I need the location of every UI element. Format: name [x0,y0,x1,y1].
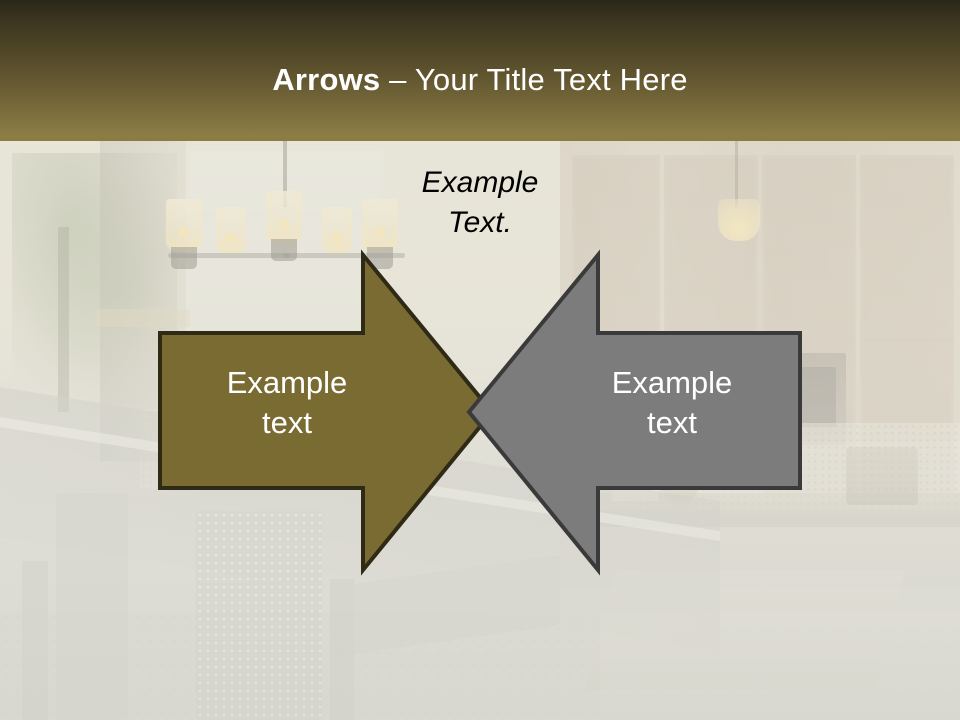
right-arrow-label: Example text [572,363,772,442]
slide: Example text Example text Example Text. … [0,0,960,720]
left-arrow-label: Example text [187,363,387,442]
page-title-strong: Arrows [272,62,380,97]
page-title-rest: – Your Title Text Here [380,62,687,97]
title-banner: Arrows – Your Title Text Here [0,0,960,141]
page-title: Arrows – Your Title Text Here [272,63,687,97]
example-text-caption: Example Text. [385,163,575,243]
